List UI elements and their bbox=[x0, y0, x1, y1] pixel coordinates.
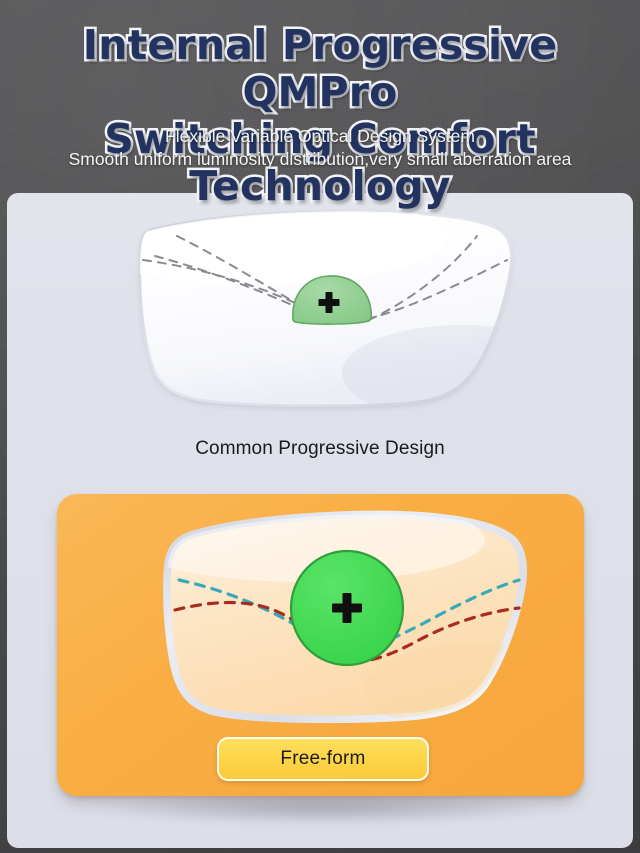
common-lens-figure bbox=[7, 198, 633, 423]
common-lens-svg bbox=[7, 198, 633, 423]
free-form-lens-figure bbox=[75, 498, 567, 728]
near-vision-marker bbox=[291, 551, 403, 665]
free-form-lens-svg bbox=[75, 498, 567, 728]
free-form-card: Free-form bbox=[57, 494, 584, 796]
content-panel: Common Progressive Design bbox=[7, 193, 633, 848]
card-drop-shadow bbox=[97, 791, 547, 825]
free-form-button[interactable]: Free-form bbox=[217, 737, 429, 781]
page-title: Internal Progressive QMPro Switching Com… bbox=[0, 22, 640, 210]
common-progressive-section: Common Progressive Design bbox=[7, 193, 633, 491]
header: Internal Progressive QMPro Switching Com… bbox=[0, 0, 640, 193]
common-progressive-caption: Common Progressive Design bbox=[7, 438, 633, 460]
page-subtitle: Flexible Variable Optical Design System … bbox=[0, 125, 640, 171]
